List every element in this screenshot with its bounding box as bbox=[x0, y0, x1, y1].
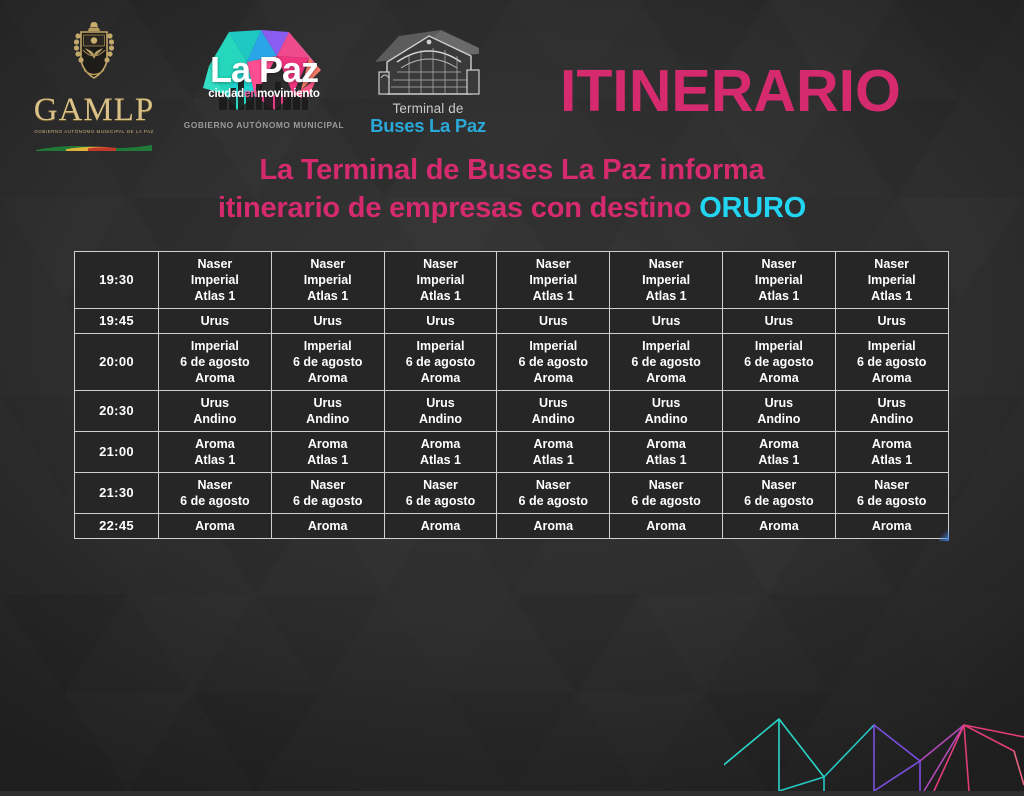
company-name: Aroma bbox=[725, 518, 833, 534]
company-name: 6 de agosto bbox=[838, 354, 946, 370]
company-cell: Aroma bbox=[835, 514, 948, 539]
company-name: Naser bbox=[161, 256, 269, 272]
company-name: Aroma bbox=[387, 370, 495, 386]
departure-time-cell: 22:45 bbox=[75, 514, 159, 539]
company-name: Naser bbox=[838, 477, 946, 493]
company-name: Urus bbox=[612, 313, 720, 329]
company-cell: Aroma bbox=[159, 514, 272, 539]
company-name: Urus bbox=[161, 313, 269, 329]
company-name: Imperial bbox=[161, 272, 269, 288]
company-name: Aroma bbox=[725, 436, 833, 452]
table-row: 20:00Imperial6 de agostoAromaImperial6 d… bbox=[75, 334, 949, 391]
lapaz-wordmark: La Paz bbox=[189, 52, 339, 88]
company-cell: Aroma bbox=[271, 514, 384, 539]
gamlp-swoosh-icon bbox=[36, 138, 152, 145]
company-name: 6 de agosto bbox=[387, 354, 495, 370]
company-name: Imperial bbox=[612, 338, 720, 354]
terminal-building-icon bbox=[367, 28, 489, 98]
company-name: Atlas 1 bbox=[387, 288, 495, 304]
company-name: 6 de agosto bbox=[161, 354, 269, 370]
company-name: Urus bbox=[499, 313, 607, 329]
schedule-table-wrapper: 19:30NaserImperialAtlas 1NaserImperialAt… bbox=[74, 251, 948, 539]
company-name: Andino bbox=[274, 411, 382, 427]
company-cell: Imperial6 de agostoAroma bbox=[271, 334, 384, 391]
company-name: Aroma bbox=[612, 436, 720, 452]
company-name: Atlas 1 bbox=[161, 452, 269, 468]
company-cell: Naser6 de agosto bbox=[610, 473, 723, 514]
company-cell: AromaAtlas 1 bbox=[835, 432, 948, 473]
company-cell: Aroma bbox=[610, 514, 723, 539]
company-name: Imperial bbox=[725, 338, 833, 354]
company-name: Urus bbox=[387, 313, 495, 329]
header: GAMLP GOBIERNO AUTÓNOMO MUNICIPAL DE LA … bbox=[0, 0, 1024, 150]
company-cell: Imperial6 de agostoAroma bbox=[497, 334, 610, 391]
company-cell: UrusAndino bbox=[497, 391, 610, 432]
company-cell: Aroma bbox=[722, 514, 835, 539]
company-cell: UrusAndino bbox=[271, 391, 384, 432]
gamlp-subtitle: GOBIERNO AUTÓNOMO MUNICIPAL DE LA PAZ bbox=[24, 129, 164, 134]
company-name: Aroma bbox=[838, 370, 946, 386]
company-name: Urus bbox=[838, 395, 946, 411]
company-name: Aroma bbox=[499, 518, 607, 534]
company-name: Imperial bbox=[274, 272, 382, 288]
company-cell: AromaAtlas 1 bbox=[159, 432, 272, 473]
company-name: 6 de agosto bbox=[499, 493, 607, 509]
departure-time-cell: 21:30 bbox=[75, 473, 159, 514]
schedule-table: 19:30NaserImperialAtlas 1NaserImperialAt… bbox=[74, 251, 949, 539]
company-name: 6 de agosto bbox=[387, 493, 495, 509]
departure-time-cell: 19:30 bbox=[75, 252, 159, 309]
company-name: Imperial bbox=[387, 272, 495, 288]
company-name: Andino bbox=[612, 411, 720, 427]
company-cell: NaserImperialAtlas 1 bbox=[159, 252, 272, 309]
company-cell: Naser6 de agosto bbox=[159, 473, 272, 514]
gamlp-wordmark: GAMLP bbox=[24, 94, 164, 127]
company-name: Atlas 1 bbox=[499, 452, 607, 468]
company-name: Urus bbox=[161, 395, 269, 411]
company-name: Aroma bbox=[274, 518, 382, 534]
table-row: 21:00AromaAtlas 1AromaAtlas 1AromaAtlas … bbox=[75, 432, 949, 473]
subtitle-line-1: La Terminal de Buses La Paz informa bbox=[0, 152, 1024, 188]
company-cell: UrusAndino bbox=[610, 391, 723, 432]
table-row: 20:30UrusAndinoUrusAndinoUrusAndinoUrusA… bbox=[75, 391, 949, 432]
company-cell: NaserImperialAtlas 1 bbox=[722, 252, 835, 309]
company-name: Imperial bbox=[274, 338, 382, 354]
lapaz-logo: La Paz ciudadenmovimiento GOBIERNO AUTÓN… bbox=[180, 22, 348, 146]
destination-label: ORURO bbox=[699, 192, 806, 224]
company-name: Urus bbox=[725, 395, 833, 411]
company-name: Atlas 1 bbox=[387, 452, 495, 468]
company-cell: Imperial6 de agostoAroma bbox=[384, 334, 497, 391]
company-name: Atlas 1 bbox=[274, 288, 382, 304]
table-row: 22:45AromaAromaAromaAromaAromaAromaAroma bbox=[75, 514, 949, 539]
company-name: 6 de agosto bbox=[274, 354, 382, 370]
subtitle-block: La Terminal de Buses La Paz informa itin… bbox=[0, 152, 1024, 227]
company-name: Urus bbox=[838, 313, 946, 329]
company-name: Atlas 1 bbox=[612, 288, 720, 304]
company-name: 6 de agosto bbox=[274, 493, 382, 509]
company-name: Naser bbox=[274, 256, 382, 272]
company-name: Urus bbox=[725, 313, 833, 329]
company-name: 6 de agosto bbox=[725, 354, 833, 370]
company-name: Imperial bbox=[838, 338, 946, 354]
company-name: Aroma bbox=[387, 436, 495, 452]
company-name: Andino bbox=[838, 411, 946, 427]
company-name: Atlas 1 bbox=[838, 452, 946, 468]
table-corner-accent bbox=[939, 529, 949, 541]
company-name: Imperial bbox=[499, 338, 607, 354]
company-name: Urus bbox=[612, 395, 720, 411]
company-name: Naser bbox=[725, 477, 833, 493]
company-name: Aroma bbox=[725, 370, 833, 386]
company-name: Aroma bbox=[838, 436, 946, 452]
company-name: Atlas 1 bbox=[838, 288, 946, 304]
company-name: 6 de agosto bbox=[612, 493, 720, 509]
company-name: Naser bbox=[725, 256, 833, 272]
terminal-line1: Terminal de bbox=[360, 101, 496, 116]
company-cell: Urus bbox=[835, 309, 948, 334]
company-name: 6 de agosto bbox=[838, 493, 946, 509]
company-name: Aroma bbox=[161, 370, 269, 386]
company-cell: NaserImperialAtlas 1 bbox=[835, 252, 948, 309]
company-name: Naser bbox=[612, 477, 720, 493]
company-name: Aroma bbox=[612, 370, 720, 386]
company-name: Naser bbox=[499, 256, 607, 272]
company-name: Atlas 1 bbox=[612, 452, 720, 468]
company-cell: AromaAtlas 1 bbox=[610, 432, 723, 473]
company-cell: UrusAndino bbox=[159, 391, 272, 432]
company-name: Imperial bbox=[161, 338, 269, 354]
polygon-lines-decoration bbox=[724, 681, 1024, 791]
company-cell: Imperial6 de agostoAroma bbox=[159, 334, 272, 391]
company-name: Andino bbox=[161, 411, 269, 427]
company-name: Atlas 1 bbox=[725, 288, 833, 304]
company-name: Atlas 1 bbox=[725, 452, 833, 468]
company-cell: AromaAtlas 1 bbox=[722, 432, 835, 473]
company-name: Aroma bbox=[161, 518, 269, 534]
company-name: Aroma bbox=[499, 436, 607, 452]
company-cell: NaserImperialAtlas 1 bbox=[384, 252, 497, 309]
company-cell: Urus bbox=[610, 309, 723, 334]
company-name: Urus bbox=[274, 313, 382, 329]
company-cell: Urus bbox=[497, 309, 610, 334]
company-name: 6 de agosto bbox=[725, 493, 833, 509]
company-cell: AromaAtlas 1 bbox=[384, 432, 497, 473]
company-name: Naser bbox=[387, 477, 495, 493]
terminal-line2: Buses La Paz bbox=[360, 116, 496, 135]
company-cell: NaserImperialAtlas 1 bbox=[497, 252, 610, 309]
company-cell: NaserImperialAtlas 1 bbox=[610, 252, 723, 309]
company-name: 6 de agosto bbox=[499, 354, 607, 370]
company-cell: Imperial6 de agostoAroma bbox=[610, 334, 723, 391]
company-name: Imperial bbox=[725, 272, 833, 288]
page-title: ITINERARIO bbox=[560, 62, 1000, 121]
company-name: Aroma bbox=[612, 518, 720, 534]
company-name: Imperial bbox=[499, 272, 607, 288]
company-cell: Aroma bbox=[497, 514, 610, 539]
company-name: Atlas 1 bbox=[161, 288, 269, 304]
company-name: Urus bbox=[274, 395, 382, 411]
departure-time-cell: 20:00 bbox=[75, 334, 159, 391]
company-cell: Urus bbox=[384, 309, 497, 334]
company-name: Aroma bbox=[274, 370, 382, 386]
departure-time-cell: 20:30 bbox=[75, 391, 159, 432]
company-name: Imperial bbox=[838, 272, 946, 288]
company-cell: UrusAndino bbox=[384, 391, 497, 432]
company-name: Aroma bbox=[161, 436, 269, 452]
company-cell: UrusAndino bbox=[722, 391, 835, 432]
company-name: Andino bbox=[499, 411, 607, 427]
company-cell: Naser6 de agosto bbox=[722, 473, 835, 514]
company-name: Aroma bbox=[499, 370, 607, 386]
company-name: Naser bbox=[499, 477, 607, 493]
departure-time-cell: 21:00 bbox=[75, 432, 159, 473]
company-name: Aroma bbox=[838, 518, 946, 534]
tagline-movimiento: movimiento bbox=[257, 88, 320, 100]
company-name: 6 de agosto bbox=[161, 493, 269, 509]
company-name: Andino bbox=[725, 411, 833, 427]
company-name: Naser bbox=[838, 256, 946, 272]
company-cell: Urus bbox=[271, 309, 384, 334]
company-cell: Urus bbox=[159, 309, 272, 334]
company-name: Urus bbox=[499, 395, 607, 411]
departure-time-cell: 19:45 bbox=[75, 309, 159, 334]
company-name: Naser bbox=[612, 256, 720, 272]
company-name: Atlas 1 bbox=[499, 288, 607, 304]
company-cell: Naser6 de agosto bbox=[384, 473, 497, 514]
company-name: Atlas 1 bbox=[274, 452, 382, 468]
table-row: 19:45UrusUrusUrusUrusUrusUrusUrus bbox=[75, 309, 949, 334]
company-name: Aroma bbox=[274, 436, 382, 452]
tagline-ciudad: ciudad bbox=[208, 88, 244, 100]
company-name: Naser bbox=[274, 477, 382, 493]
company-cell: Urus bbox=[722, 309, 835, 334]
company-name: Naser bbox=[387, 256, 495, 272]
gamlp-logo: GAMLP GOBIERNO AUTÓNOMO MUNICIPAL DE LA … bbox=[24, 18, 164, 146]
subtitle-line-2: itinerario de empresas con destino ORURO bbox=[0, 190, 1024, 226]
subtitle-line2-prefix: itinerario de empresas con destino bbox=[218, 192, 699, 224]
company-cell: Aroma bbox=[384, 514, 497, 539]
table-row: 21:30Naser6 de agostoNaser6 de agostoNas… bbox=[75, 473, 949, 514]
company-cell: AromaAtlas 1 bbox=[497, 432, 610, 473]
company-cell: Imperial6 de agostoAroma bbox=[835, 334, 948, 391]
company-name: Imperial bbox=[387, 338, 495, 354]
lapaz-footer: GOBIERNO AUTÓNOMO MUNICIPAL bbox=[180, 120, 348, 130]
company-name: Andino bbox=[387, 411, 495, 427]
company-cell: Naser6 de agosto bbox=[497, 473, 610, 514]
company-name: Aroma bbox=[387, 518, 495, 534]
table-row: 19:30NaserImperialAtlas 1NaserImperialAt… bbox=[75, 252, 949, 309]
company-name: 6 de agosto bbox=[612, 354, 720, 370]
company-cell: AromaAtlas 1 bbox=[271, 432, 384, 473]
tagline-en: en bbox=[244, 88, 257, 100]
company-cell: NaserImperialAtlas 1 bbox=[271, 252, 384, 309]
company-cell: Naser6 de agosto bbox=[835, 473, 948, 514]
company-cell: Imperial6 de agostoAroma bbox=[722, 334, 835, 391]
company-name: Imperial bbox=[612, 272, 720, 288]
company-cell: UrusAndino bbox=[835, 391, 948, 432]
company-cell: Naser6 de agosto bbox=[271, 473, 384, 514]
company-name: Naser bbox=[161, 477, 269, 493]
lapaz-tagline: ciudadenmovimiento bbox=[189, 88, 339, 100]
company-name: Urus bbox=[387, 395, 495, 411]
terminal-logo: Terminal de Buses La Paz bbox=[360, 28, 496, 144]
coat-of-arms-icon bbox=[61, 18, 127, 92]
